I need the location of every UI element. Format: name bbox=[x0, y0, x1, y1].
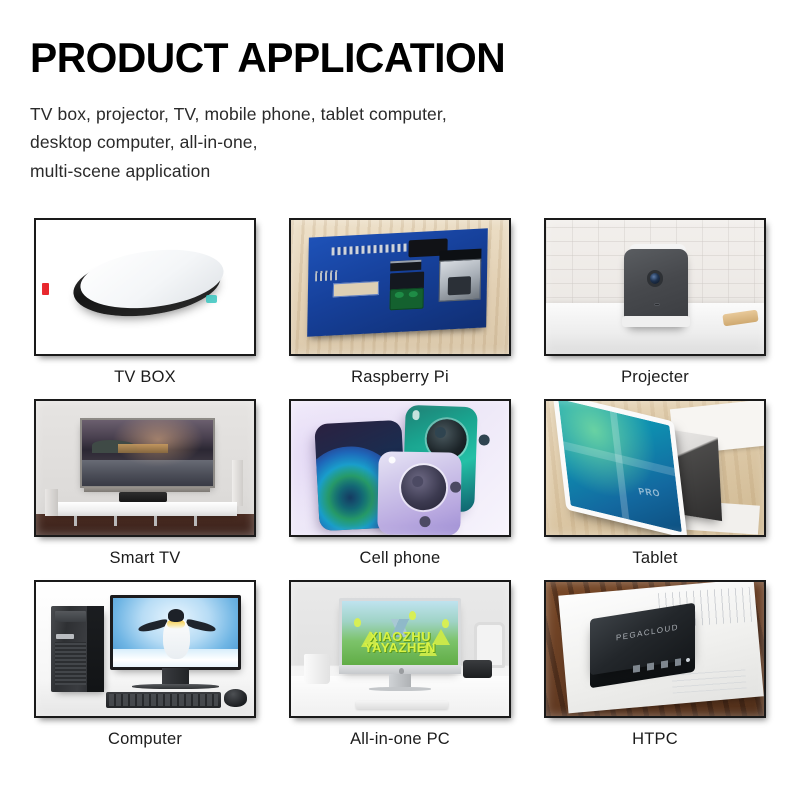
grid-item-cell-phone: Cell phone bbox=[289, 399, 511, 568]
caption-tv-box: TV BOX bbox=[34, 356, 256, 387]
tv-screen bbox=[82, 420, 213, 486]
caption-projector: Projecter bbox=[544, 356, 766, 387]
screen-balloon-icon-1 bbox=[354, 618, 361, 627]
page-subtitle: TV box, projector, TV, mobile phone, tab… bbox=[30, 100, 630, 185]
screen-headline-line2: YAYAZHEN bbox=[364, 640, 436, 655]
tv-box-red-indicator bbox=[42, 283, 49, 295]
tablet-device: PRO bbox=[553, 399, 688, 537]
ethernet-port-icon bbox=[439, 259, 483, 303]
keyboard bbox=[106, 692, 222, 708]
caption-cell-phone: Cell phone bbox=[289, 537, 511, 568]
camera-module-icon-secondary bbox=[401, 465, 446, 510]
grid-item-computer: Computer bbox=[34, 580, 256, 749]
raspberry-pi-image bbox=[291, 220, 509, 354]
desk-cup bbox=[304, 654, 330, 683]
monitor-screen bbox=[113, 598, 238, 667]
phone-flash-icon-secondary bbox=[389, 456, 397, 463]
screen-balloon-icon-2 bbox=[409, 611, 416, 620]
mouse bbox=[224, 689, 248, 706]
caption-tablet: Tablet bbox=[544, 537, 766, 568]
photo-frame-raspberry-pi bbox=[289, 218, 511, 356]
monitor-stand-neck bbox=[162, 668, 188, 684]
caption-htpc: HTPC bbox=[544, 718, 766, 749]
screen-balloon-icon-3 bbox=[442, 619, 449, 628]
wireless-keyboard bbox=[356, 701, 448, 709]
media-console bbox=[53, 502, 236, 517]
grid-item-htpc: PEGACLOUD HTPC bbox=[544, 580, 766, 749]
tv-box-image bbox=[36, 220, 254, 354]
tower-side-panel bbox=[87, 606, 104, 692]
smart-tv-image bbox=[36, 401, 254, 535]
all-in-one-screen: XIAOZHU YAYAZHEN bbox=[342, 601, 458, 670]
application-grid: TV BOX bbox=[34, 218, 766, 749]
board-cutout bbox=[333, 281, 380, 298]
photo-frame-computer bbox=[34, 580, 256, 718]
tower-front-grill bbox=[55, 642, 85, 685]
pin-header-icon bbox=[332, 244, 407, 256]
grid-item-tablet: PRO Tablet bbox=[544, 399, 766, 568]
tower-speaker-left bbox=[45, 489, 58, 516]
all-in-one-monitor: XIAOZHU YAYAZHEN bbox=[339, 598, 461, 673]
all-in-one-image: XIAOZHU YAYAZHEN bbox=[291, 582, 509, 716]
monitor-chin bbox=[339, 665, 461, 674]
grid-item-projector: Projecter bbox=[544, 218, 766, 387]
projector-lens-icon bbox=[650, 273, 661, 284]
grid-item-raspberry-pi: Raspberry Pi bbox=[289, 218, 511, 387]
penguin-head bbox=[168, 609, 184, 621]
penguin-wing-right bbox=[185, 618, 216, 633]
page-title: PRODUCT APPLICATION bbox=[30, 36, 777, 80]
projector-image bbox=[546, 220, 764, 354]
grid-item-smart-tv: Smart TV bbox=[34, 399, 256, 568]
apple-logo-icon bbox=[399, 668, 404, 674]
terminal-block bbox=[390, 288, 424, 312]
phone-flash-icon bbox=[413, 411, 421, 421]
keyboard-keys bbox=[109, 694, 219, 706]
photo-frame-cell-phone bbox=[289, 399, 511, 537]
tv-box-teal-indicator bbox=[206, 295, 217, 303]
pin-header-secondary-icon bbox=[316, 270, 338, 281]
photo-frame-smart-tv bbox=[34, 399, 256, 537]
monitor-stand-base bbox=[132, 684, 219, 689]
desktop-tower bbox=[51, 606, 103, 692]
all-in-one-foot bbox=[369, 687, 430, 691]
tv-panel bbox=[80, 418, 215, 488]
htpc-image: PEGACLOUD bbox=[546, 582, 764, 716]
header: PRODUCT APPLICATION TV box, projector, T… bbox=[0, 0, 800, 185]
photo-frame-all-in-one: XIAOZHU YAYAZHEN bbox=[289, 580, 511, 718]
tablet-image: PRO bbox=[546, 401, 764, 535]
caption-all-in-one: All-in-one PC bbox=[289, 718, 511, 749]
desk-camera bbox=[463, 660, 491, 679]
optical-drive-bay bbox=[55, 611, 85, 621]
cell-phone-image bbox=[291, 401, 509, 535]
screen-villa bbox=[118, 444, 168, 453]
tablet-screen: PRO bbox=[558, 399, 682, 532]
integrated-circuit bbox=[391, 260, 422, 272]
computer-monitor bbox=[110, 595, 241, 670]
screen-water-reflection bbox=[82, 460, 213, 486]
grid-item-tv-box: TV BOX bbox=[34, 218, 256, 387]
tower-brand-badge bbox=[56, 634, 74, 639]
photo-frame-tablet: PRO bbox=[544, 399, 766, 537]
tablet-screen-label: PRO bbox=[637, 486, 661, 499]
caption-smart-tv: Smart TV bbox=[34, 537, 256, 568]
computer-image bbox=[36, 582, 254, 716]
photo-frame-tv-box bbox=[34, 218, 256, 356]
caption-computer: Computer bbox=[34, 718, 256, 749]
tower-speaker-right bbox=[232, 460, 243, 506]
phone-purple-rear bbox=[377, 451, 461, 536]
console-legs bbox=[58, 516, 232, 525]
grid-item-all-in-one: XIAOZHU YAYAZHEN All-in-one PC bbox=[289, 580, 511, 749]
wallpaper-beam-vertical bbox=[609, 411, 629, 519]
projector-ir-sensor bbox=[654, 303, 660, 306]
all-in-one-stand bbox=[389, 674, 411, 686]
photo-frame-htpc: PEGACLOUD bbox=[544, 580, 766, 718]
projector-base bbox=[622, 316, 690, 327]
caption-raspberry-pi: Raspberry Pi bbox=[289, 356, 511, 387]
photo-frame-projector bbox=[544, 218, 766, 356]
product-application-page: PRODUCT APPLICATION TV box, projector, T… bbox=[0, 0, 800, 800]
media-player-box bbox=[119, 492, 167, 501]
pcb-board bbox=[308, 229, 488, 338]
